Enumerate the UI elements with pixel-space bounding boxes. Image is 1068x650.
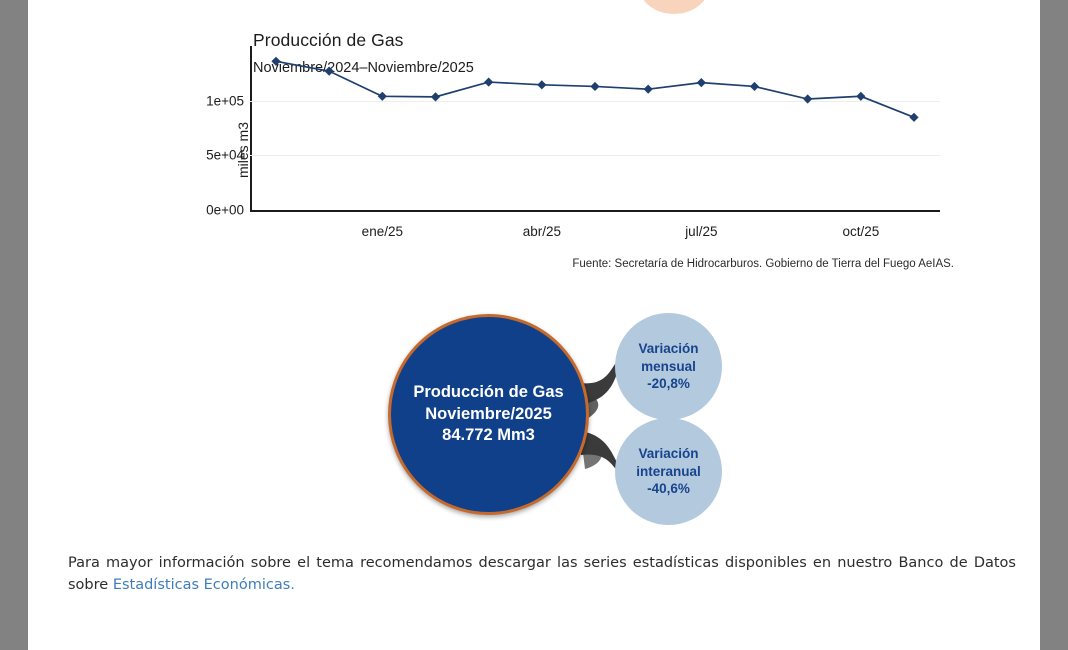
chart-data-point: [803, 94, 812, 103]
chart-data-point: [590, 82, 599, 91]
footer-note: Para mayor información sobre el tema rec…: [68, 552, 1016, 596]
monthly-variation-label-1: Variación: [638, 340, 698, 358]
scroll-band-left: [0, 0, 28, 650]
scroll-band-right: [1040, 0, 1068, 650]
monthly-variation-circle: Variación mensual -20,8%: [615, 313, 722, 420]
decorative-arc: [638, 0, 710, 14]
monthly-variation-value: -20,8%: [647, 375, 690, 393]
chart-y-tick-label: 1e+05: [206, 93, 244, 108]
chart-data-point: [909, 113, 918, 122]
chart-x-tick-label: jul/25: [685, 224, 717, 239]
chart-x-tick-label: abr/25: [523, 224, 561, 239]
summary-diagram: Producción de Gas Noviembre/2025 84.772 …: [383, 305, 743, 535]
chart-x-axis-line: [250, 210, 940, 212]
screenshot-root: Producción de Gas Noviembre/2024–Noviemb…: [0, 0, 1068, 650]
annual-variation-circle: Variación interanual -40,6%: [615, 418, 722, 525]
gas-production-chart: Producción de Gas Noviembre/2024–Noviemb…: [224, 24, 954, 274]
monthly-variation-label-2: mensual: [641, 358, 696, 376]
chart-data-point: [378, 92, 387, 101]
chart-data-point: [537, 80, 546, 89]
annual-variation-value: -40,6%: [647, 480, 690, 498]
chart-data-point: [484, 77, 493, 86]
annual-variation-label-2: interanual: [636, 463, 701, 481]
main-metric-value: 84.772 Mm3: [442, 425, 535, 447]
chart-plot-area: 0e+005e+041e+05 ene/25abr/25jul/25oct/25: [250, 82, 940, 210]
chart-data-point: [431, 92, 440, 101]
chart-data-point: [325, 67, 334, 76]
document-page: Producción de Gas Noviembre/2024–Noviemb…: [28, 0, 1040, 650]
annual-variation-label-1: Variación: [638, 445, 698, 463]
main-metric-period: Noviembre/2025: [425, 404, 552, 426]
chart-y-tick-label: 0e+00: [206, 203, 244, 218]
chart-y-tick-label: 5e+04: [206, 148, 244, 163]
chart-data-point: [271, 57, 280, 66]
chart-x-tick-label: ene/25: [362, 224, 403, 239]
chart-data-point: [644, 85, 653, 94]
page-bottom-cutoff-text: [68, 638, 1008, 650]
chart-data-point: [856, 92, 865, 101]
chart-data-point: [697, 78, 706, 87]
main-metric-circle: Producción de Gas Noviembre/2025 84.772 …: [388, 314, 589, 515]
chart-data-point: [750, 82, 759, 91]
chart-source-note: Fuente: Secretaría de Hidrocarburos. Gob…: [224, 258, 954, 270]
estadisticas-economicas-link[interactable]: Estadísticas Económicas.: [113, 577, 295, 593]
chart-x-tick-label: oct/25: [842, 224, 879, 239]
chart-line-series: [250, 46, 940, 210]
main-metric-title: Producción de Gas: [413, 382, 563, 404]
